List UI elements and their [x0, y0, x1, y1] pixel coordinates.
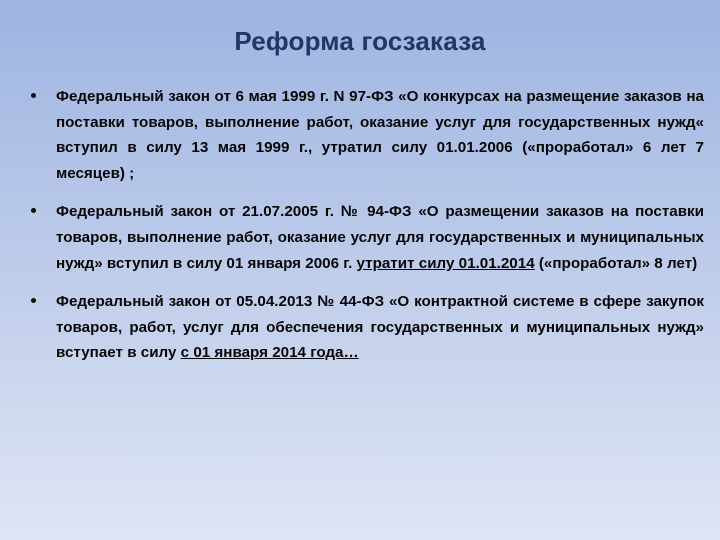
bullet-3-text-before: Федеральный закон от 05.04.2013 № 44-ФЗ …	[56, 293, 704, 361]
bullet-2-text-after: («проработал» 8 лет)	[535, 255, 698, 272]
bullet-1-text-before: Федеральный закон от 6 мая 1999 г. N 97-…	[56, 88, 704, 182]
page-title: Реформа госзаказа	[0, 26, 720, 57]
bullet-dot-icon	[31, 93, 36, 98]
presentation-slide: Реформа госзаказа Федеральный закон от 6…	[0, 0, 720, 540]
bullet-dot-icon	[31, 208, 36, 213]
bullet-1-text: Федеральный закон от 6 мая 1999 г. N 97-…	[56, 84, 704, 186]
bullet-3-underlined: с 01 января 2014 года…	[181, 344, 359, 361]
slide-body-content: Федеральный закон от 6 мая 1999 г. N 97-…	[22, 84, 704, 366]
bullet-paragraph-3: Федеральный закон от 05.04.2013 № 44-ФЗ …	[22, 289, 704, 366]
bullet-paragraph-2: Федеральный закон от 21.07.2005 г. № 94-…	[22, 199, 704, 276]
bullet-dot-icon	[31, 298, 36, 303]
bullet-2-text: Федеральный закон от 21.07.2005 г. № 94-…	[56, 199, 704, 276]
bullet-3-text: Федеральный закон от 05.04.2013 № 44-ФЗ …	[56, 289, 704, 366]
bullet-2-underlined: утратит силу 01.01.2014	[357, 255, 535, 272]
bullet-paragraph-1: Федеральный закон от 6 мая 1999 г. N 97-…	[22, 84, 704, 186]
